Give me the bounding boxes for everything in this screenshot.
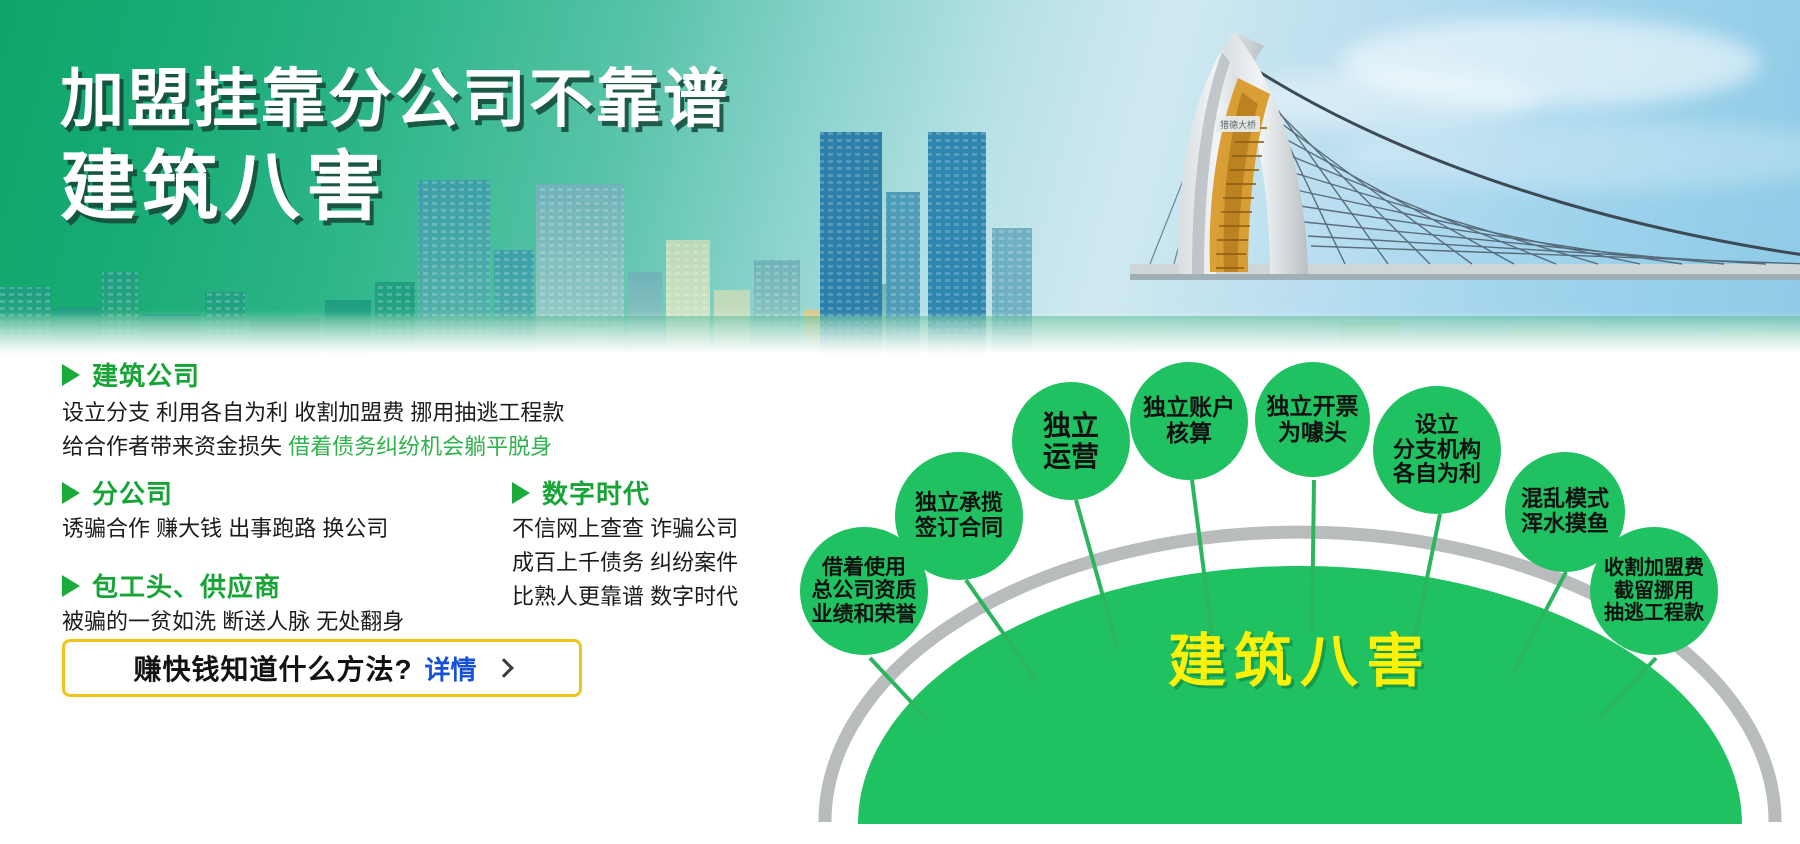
triangle-right-icon [512, 482, 530, 504]
section-heading-label: 数字时代 [542, 474, 650, 511]
left-content: 建筑公司 设立分支 利用各自为利 收割加盟费 挪用抽逃工程款 给合作者带来资金损… [0, 362, 800, 844]
bubble-item[interactable]: 独立承揽 签订合同 [895, 452, 1023, 580]
hero-banner: 猎德大桥 加盟挂靠分公司不靠谱 建筑八害 [0, 0, 1800, 362]
hero-title-line2: 建筑八害 [60, 142, 730, 234]
body-line: 被骗的一贫如洗 断送人脉 无处翻身 [62, 605, 404, 639]
body-line: 不信网上查查 诈骗公司 [512, 512, 738, 546]
body-line: 给合作者带来资金损失 借着债务纠纷机会躺平脱身 [62, 430, 564, 464]
section-body-contractor-supplier: 被骗的一贫如洗 断送人脉 无处翻身 [62, 605, 404, 639]
cta-button[interactable]: 赚快钱知道什么方法? 详情 [62, 639, 582, 697]
bubble-item[interactable]: 独立开票 为噱头 [1255, 362, 1370, 477]
section-body-branch-company: 诱骗合作 赚大钱 出事跑路 换公司 [62, 512, 388, 546]
bahai-diagram: 建筑八害 借着使用 总公司资质 业绩和荣誉 独立承揽 签订合同 独立 运营 独立… [800, 362, 1800, 844]
body-line-highlight: 借着债务纠纷机会躺平脱身 [288, 434, 552, 459]
poster-root: 猎德大桥 加盟挂靠分公司不靠谱 建筑八害 建筑公司 设立分支 利用各自为利 收割… [0, 0, 1800, 844]
section-heading-branch-company: 分公司 [62, 474, 173, 511]
body-line: 设立分支 利用各自为利 收割加盟费 挪用抽逃工程款 [62, 396, 564, 430]
triangle-right-icon [62, 482, 80, 504]
section-heading-contractor-supplier: 包工头、供应商 [62, 567, 281, 604]
liede-bridge: 猎德大桥 [1130, 32, 1800, 322]
section-body-construction-company: 设立分支 利用各自为利 收割加盟费 挪用抽逃工程款 给合作者带来资金损失 借着债… [62, 396, 564, 464]
hero-title: 加盟挂靠分公司不靠谱 建筑八害 [60, 62, 730, 234]
bubble-item[interactable]: 独立 运营 [1012, 382, 1130, 500]
chevron-right-icon [494, 658, 514, 678]
body-line-text: 给合作者带来资金损失 [62, 434, 288, 459]
cta-link-text[interactable]: 详情 [425, 650, 477, 687]
body-line: 比熟人更靠谱 数字时代 [512, 580, 738, 614]
hero-title-line1: 加盟挂靠分公司不靠谱 [60, 62, 730, 136]
section-body-digital-era: 不信网上查查 诈骗公司 成百上千债务 纠纷案件 比熟人更靠谱 数字时代 [512, 512, 738, 614]
bridge-sign-text: 猎德大桥 [1220, 119, 1256, 130]
section-heading-construction-company: 建筑公司 [62, 356, 200, 393]
triangle-right-icon [62, 575, 80, 597]
section-heading-digital-era: 数字时代 [512, 474, 650, 511]
section-heading-label: 包工头、供应商 [92, 567, 281, 604]
cta-main-text: 赚快钱知道什么方法? [133, 648, 412, 688]
section-heading-label: 建筑公司 [92, 356, 200, 393]
bubble-item[interactable]: 独立账户 核算 [1130, 362, 1248, 480]
body-line: 诱骗合作 赚大钱 出事跑路 换公司 [62, 512, 388, 546]
bubble-item[interactable]: 设立 分支机构 各自为利 [1373, 386, 1501, 514]
hero-bottom-fade [0, 310, 1800, 362]
body-line: 成百上千债务 纠纷案件 [512, 546, 738, 580]
bridge-svg: 猎德大桥 [1130, 32, 1800, 322]
bubble-item[interactable]: 收割加盟费 截留挪用 抽逃工程款 [1590, 527, 1718, 655]
section-heading-label: 分公司 [92, 474, 173, 511]
triangle-right-icon [62, 364, 80, 386]
